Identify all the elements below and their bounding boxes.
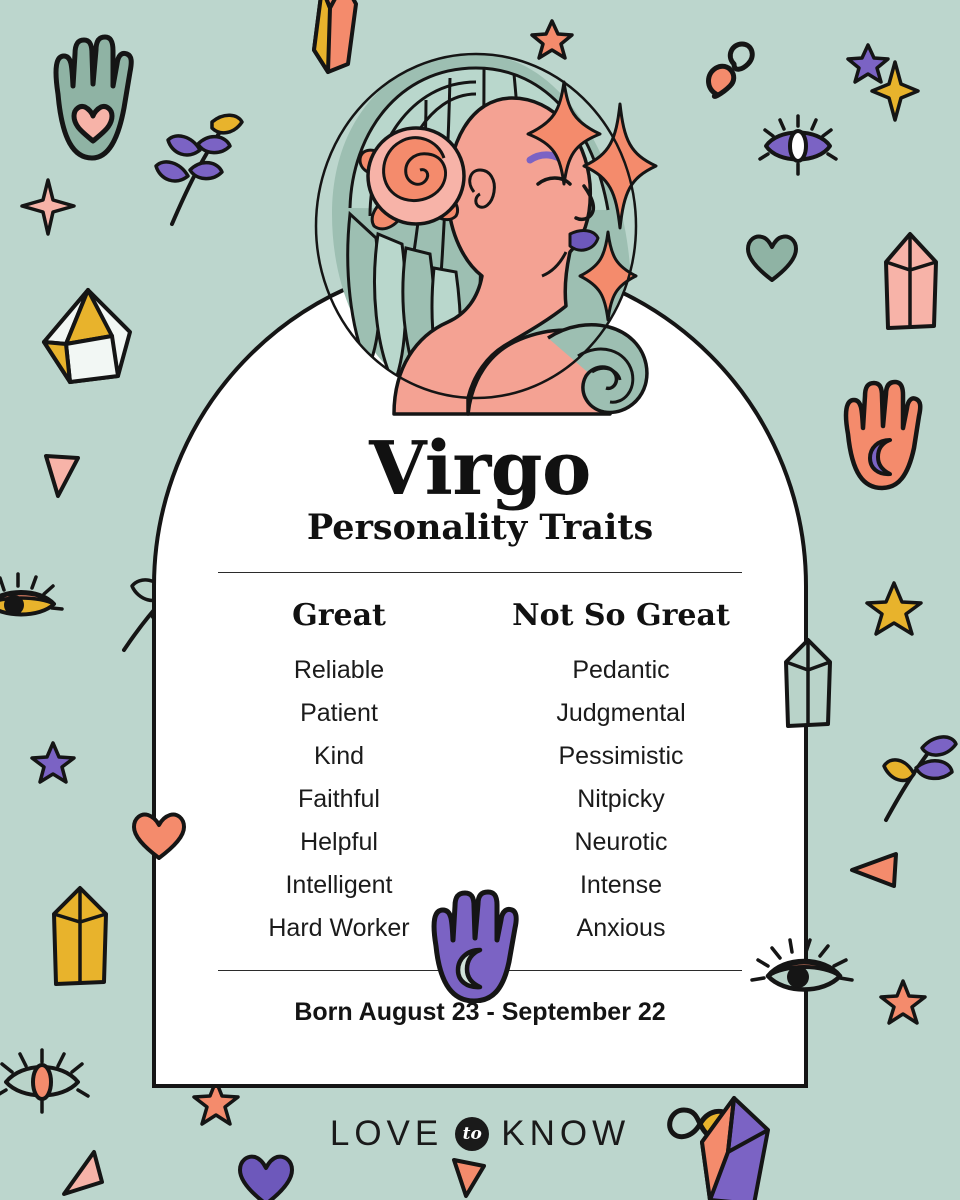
purple-eye-icon (758, 112, 838, 178)
coral-infinity-icon (700, 38, 762, 108)
trait-item: Pedantic (480, 649, 762, 692)
logo-word-love: LOVE (330, 1114, 443, 1154)
yellow-five-point-star-icon (864, 580, 924, 638)
logo-dot-text: to (463, 1126, 482, 1143)
column-heading-great: Great (198, 598, 480, 633)
trait-item: Reliable (198, 649, 480, 692)
trait-item: Patient (198, 692, 480, 735)
purple-star-icon (846, 42, 890, 86)
title-block: Virgo Personality Traits (152, 434, 808, 548)
yellow-eye-icon (0, 568, 62, 628)
logo-word-know: KNOW (501, 1114, 630, 1154)
traits-column-not-so-great: Not So Great Pedantic Judgmental Pessimi… (480, 598, 762, 950)
page-title: Virgo (152, 434, 808, 505)
pink-triangle-icon (40, 452, 84, 500)
trait-item: Pessimistic (480, 735, 762, 778)
trait-item: Helpful (198, 821, 480, 864)
trait-item: Nitpicky (480, 778, 762, 821)
purple-star-icon (30, 740, 76, 786)
column-heading-not-so-great: Not So Great (480, 598, 762, 633)
coral-triangle-icon (846, 848, 902, 904)
trait-item: Intense (480, 864, 762, 907)
page-subtitle: Personality Traits (152, 509, 808, 548)
pink-six-point-star-icon (20, 178, 76, 236)
sage-heart-icon (744, 232, 800, 284)
purple-heart-icon (236, 1152, 296, 1200)
virgo-maiden-portrait (298, 38, 658, 418)
trait-item: Faithful (198, 778, 480, 821)
divider-top (218, 572, 742, 573)
purple-yellow-leaves-icon (880, 730, 960, 826)
coral-triangle-icon (446, 1154, 490, 1200)
pink-triangle-icon (60, 1148, 118, 1200)
yellow-crystal-icon (44, 884, 116, 988)
sage-eye-with-coral-pupil-icon (0, 1042, 94, 1114)
trait-item: Neurotic (480, 821, 762, 864)
coral-hand-with-moon-icon (836, 378, 922, 490)
purple-yellow-leaf-branch-icon (150, 110, 250, 230)
coral-star-icon (878, 978, 928, 1028)
trait-item: Kind (198, 735, 480, 778)
poster-canvas: Virgo Personality Traits Great Reliable … (0, 0, 960, 1200)
yellow-four-point-star-icon (870, 60, 920, 122)
sage-hand-with-heart-icon (44, 28, 136, 170)
trait-item: Anxious (480, 907, 762, 950)
logo-dot-badge: to (455, 1117, 489, 1151)
yellow-white-crystal-icon (36, 286, 154, 394)
purple-hand-with-crescent-moon-icon (422, 888, 522, 1003)
pink-crystal-icon (876, 230, 946, 338)
brand-logo[interactable]: LOVE to KNOW (0, 1114, 960, 1154)
trait-item: Judgmental (480, 692, 762, 735)
